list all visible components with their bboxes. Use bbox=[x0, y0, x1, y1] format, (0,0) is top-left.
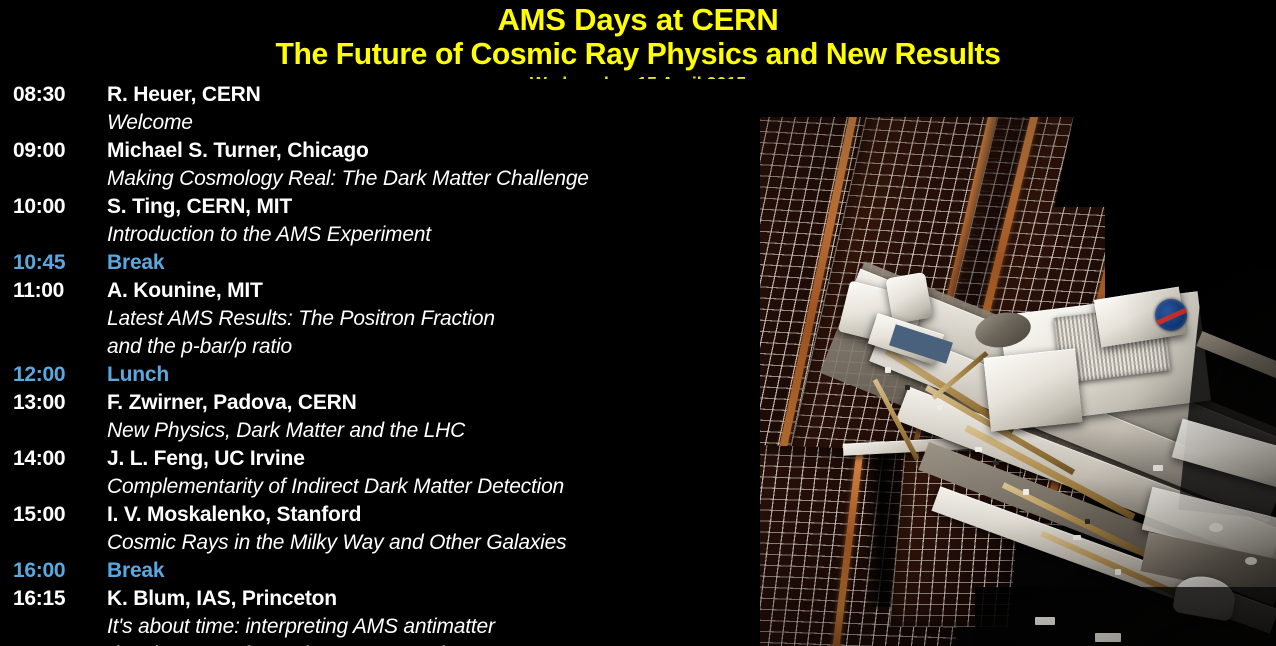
agenda-time: 13:00 bbox=[13, 391, 65, 415]
agenda-speaker: Break bbox=[107, 559, 164, 583]
agenda-description: Latest AMS Results: The Positron Fractio… bbox=[107, 307, 495, 331]
agenda-row: 12:00Lunch bbox=[0, 361, 760, 389]
agenda-time: 15:00 bbox=[13, 503, 65, 527]
conference-agenda-slide: AMS Days at CERN The Future of Cosmic Ra… bbox=[0, 0, 1276, 646]
agenda-row: 09:00Michael S. Turner, Chicago bbox=[0, 137, 760, 165]
agenda-row: 11:00A. Kounine, MIT bbox=[0, 277, 760, 305]
agenda-row: 16:15K. Blum, IAS, Princeton bbox=[0, 585, 760, 613]
agenda-description-row: Making Cosmology Real: The Dark Matter C… bbox=[0, 165, 760, 193]
agenda-description-row: Complementarity of Indirect Dark Matter … bbox=[0, 473, 760, 501]
agenda-speaker: J. L. Feng, UC Irvine bbox=[107, 447, 305, 471]
agenda-speaker: A. Kounine, MIT bbox=[107, 279, 263, 303]
agenda-time: 10:45 bbox=[13, 251, 65, 275]
agenda-speaker: R. Heuer, CERN bbox=[107, 83, 261, 107]
agenda-description: Complementarity of Indirect Dark Matter … bbox=[107, 475, 564, 499]
agenda-time: 09:00 bbox=[13, 139, 65, 163]
page-subtitle: The Future of Cosmic Ray Physics and New… bbox=[19, 36, 1257, 72]
agenda-row: 15:00I. V. Moskalenko, Stanford bbox=[0, 501, 760, 529]
agenda-speaker: F. Zwirner, Padova, CERN bbox=[107, 391, 357, 415]
agenda-description-row: and the p-bar/p ratio bbox=[0, 333, 760, 361]
agenda-row: 10:00S. Ting, CERN, MIT bbox=[0, 193, 760, 221]
agenda-description: Welcome bbox=[107, 111, 193, 135]
agenda-speaker: I. V. Moskalenko, Stanford bbox=[107, 503, 361, 527]
agenda-description: Cosmic Rays in the Milky Way and Other G… bbox=[107, 531, 566, 555]
agenda-description-row: Cosmic Rays in the Milky Way and Other G… bbox=[0, 529, 760, 557]
agenda-description: New Physics, Dark Matter and the LHC bbox=[107, 419, 465, 443]
agenda-speaker: K. Blum, IAS, Princeton bbox=[107, 587, 337, 611]
agenda-description-row: Introduction to the AMS Experiment bbox=[0, 221, 760, 249]
agenda-time: 11:00 bbox=[13, 279, 64, 303]
agenda-time: 12:00 bbox=[13, 363, 65, 387]
agenda-time: 16:15 bbox=[13, 587, 65, 611]
agenda-description: Introduction to the AMS Experiment bbox=[107, 223, 431, 247]
agenda-speaker: Break bbox=[107, 251, 164, 275]
agenda-description-row: It's about time: interpreting AMS antima… bbox=[0, 613, 760, 641]
agenda-description: It's about time: interpreting AMS antima… bbox=[107, 615, 495, 639]
agenda-time: 16:00 bbox=[13, 559, 65, 583]
agenda-speaker: S. Ting, CERN, MIT bbox=[107, 195, 292, 219]
agenda-row: 14:00J. L. Feng, UC Irvine bbox=[0, 445, 760, 473]
iss-photograph bbox=[675, 117, 1276, 646]
agenda-description: and the p-bar/p ratio bbox=[107, 335, 292, 359]
agenda-time: 08:30 bbox=[13, 83, 65, 107]
agenda-description-row: New Physics, Dark Matter and the LHC bbox=[0, 417, 760, 445]
agenda-speaker: Michael S. Turner, Chicago bbox=[107, 139, 369, 163]
agenda-description-row: Latest AMS Results: The Positron Fractio… bbox=[0, 305, 760, 333]
agenda-list: 08:30R. Heuer, CERNWelcome09:00Michael S… bbox=[0, 81, 760, 646]
agenda-row: 08:30R. Heuer, CERN bbox=[0, 81, 760, 109]
agenda-time: 10:00 bbox=[13, 195, 65, 219]
agenda-description-row: data in terms of cosmic ray propagation bbox=[0, 641, 760, 646]
page-title: AMS Days at CERN bbox=[0, 2, 1276, 38]
agenda-row: 10:45Break bbox=[0, 249, 760, 277]
agenda-time: 14:00 bbox=[13, 447, 65, 471]
agenda-row: 16:00Break bbox=[0, 557, 760, 585]
agenda-row: 13:00F. Zwirner, Padova, CERN bbox=[0, 389, 760, 417]
agenda-description: Making Cosmology Real: The Dark Matter C… bbox=[107, 167, 589, 191]
agenda-description-row: Welcome bbox=[0, 109, 760, 137]
agenda-speaker: Lunch bbox=[107, 363, 169, 387]
